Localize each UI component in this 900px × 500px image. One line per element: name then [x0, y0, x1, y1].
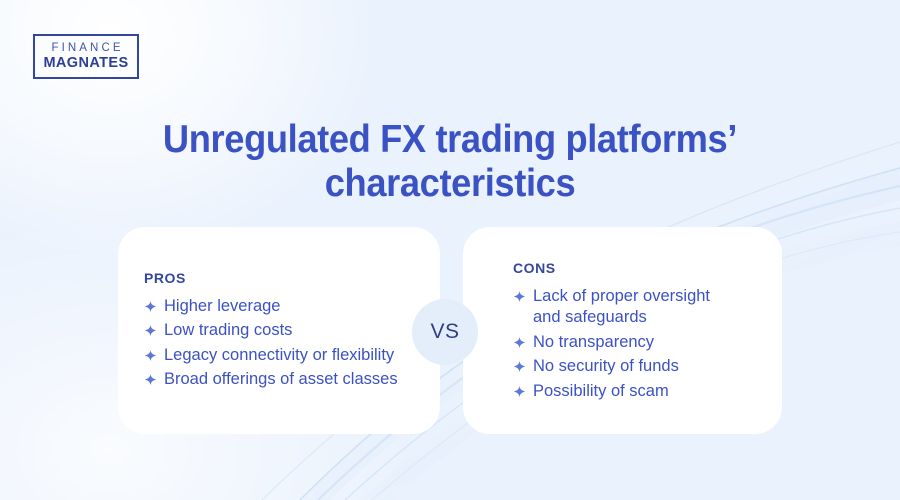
list-item-label: Low trading costs [164, 320, 292, 341]
sparkle-star-icon [144, 324, 157, 337]
sparkle-star-icon [513, 360, 526, 373]
list-item-label: Higher leverage [164, 296, 280, 317]
sparkle-star-icon [144, 349, 157, 362]
versus-label: VS [430, 320, 459, 344]
pros-heading: PROS [144, 270, 440, 286]
list-item: Low trading costs [144, 320, 440, 341]
logo-wordmark-magnates: MAGNATES [43, 55, 128, 72]
sparkle-star-icon [144, 373, 157, 386]
list-item: No transparency [513, 332, 782, 353]
pros-card-content: PROS Higher leverage [118, 270, 440, 394]
page-title-line-2: characteristics [32, 162, 869, 206]
list-item-label: Legacy connectivity or flexibility [164, 345, 394, 366]
sparkle-star-icon [513, 385, 526, 398]
list-item: Legacy connectivity or flexibility [144, 345, 440, 366]
cons-card-content: CONS Lack of proper oversight and safegu… [463, 260, 782, 405]
versus-badge: VS [412, 299, 478, 365]
list-item: Possibility of scam [513, 381, 782, 402]
pros-list: Higher leverage Low trading costs [144, 296, 440, 391]
list-item: Higher leverage [144, 296, 440, 317]
cons-card: CONS Lack of proper oversight and safegu… [463, 227, 782, 434]
sparkle-star-icon [144, 300, 157, 313]
page-title-line-1: Unregulated FX trading platforms’ [32, 118, 869, 162]
list-item: Broad offerings of asset classes [144, 369, 440, 390]
sparkle-star-icon [513, 336, 526, 349]
list-item-label: Possibility of scam [533, 381, 669, 402]
list-item: No security of funds [513, 356, 782, 377]
page-title: Unregulated FX trading platforms’ charac… [32, 118, 869, 205]
cons-heading: CONS [513, 260, 782, 276]
cons-list: Lack of proper oversight and safeguards … [513, 286, 782, 402]
list-item-label: Lack of proper oversight and safeguards [533, 286, 728, 329]
list-item: Lack of proper oversight and safeguards [513, 286, 728, 329]
logo-wordmark-finance: FINANCE [48, 42, 123, 54]
pros-card: PROS Higher leverage [118, 227, 440, 434]
list-item-label: No security of funds [533, 356, 679, 377]
sparkle-star-icon [513, 290, 526, 303]
infographic-canvas: FINANCE MAGNATES Unregulated FX trading … [0, 0, 900, 500]
list-item-label: No transparency [533, 332, 654, 353]
finance-magnates-logo: FINANCE MAGNATES [33, 34, 139, 79]
list-item-label: Broad offerings of asset classes [164, 369, 398, 390]
